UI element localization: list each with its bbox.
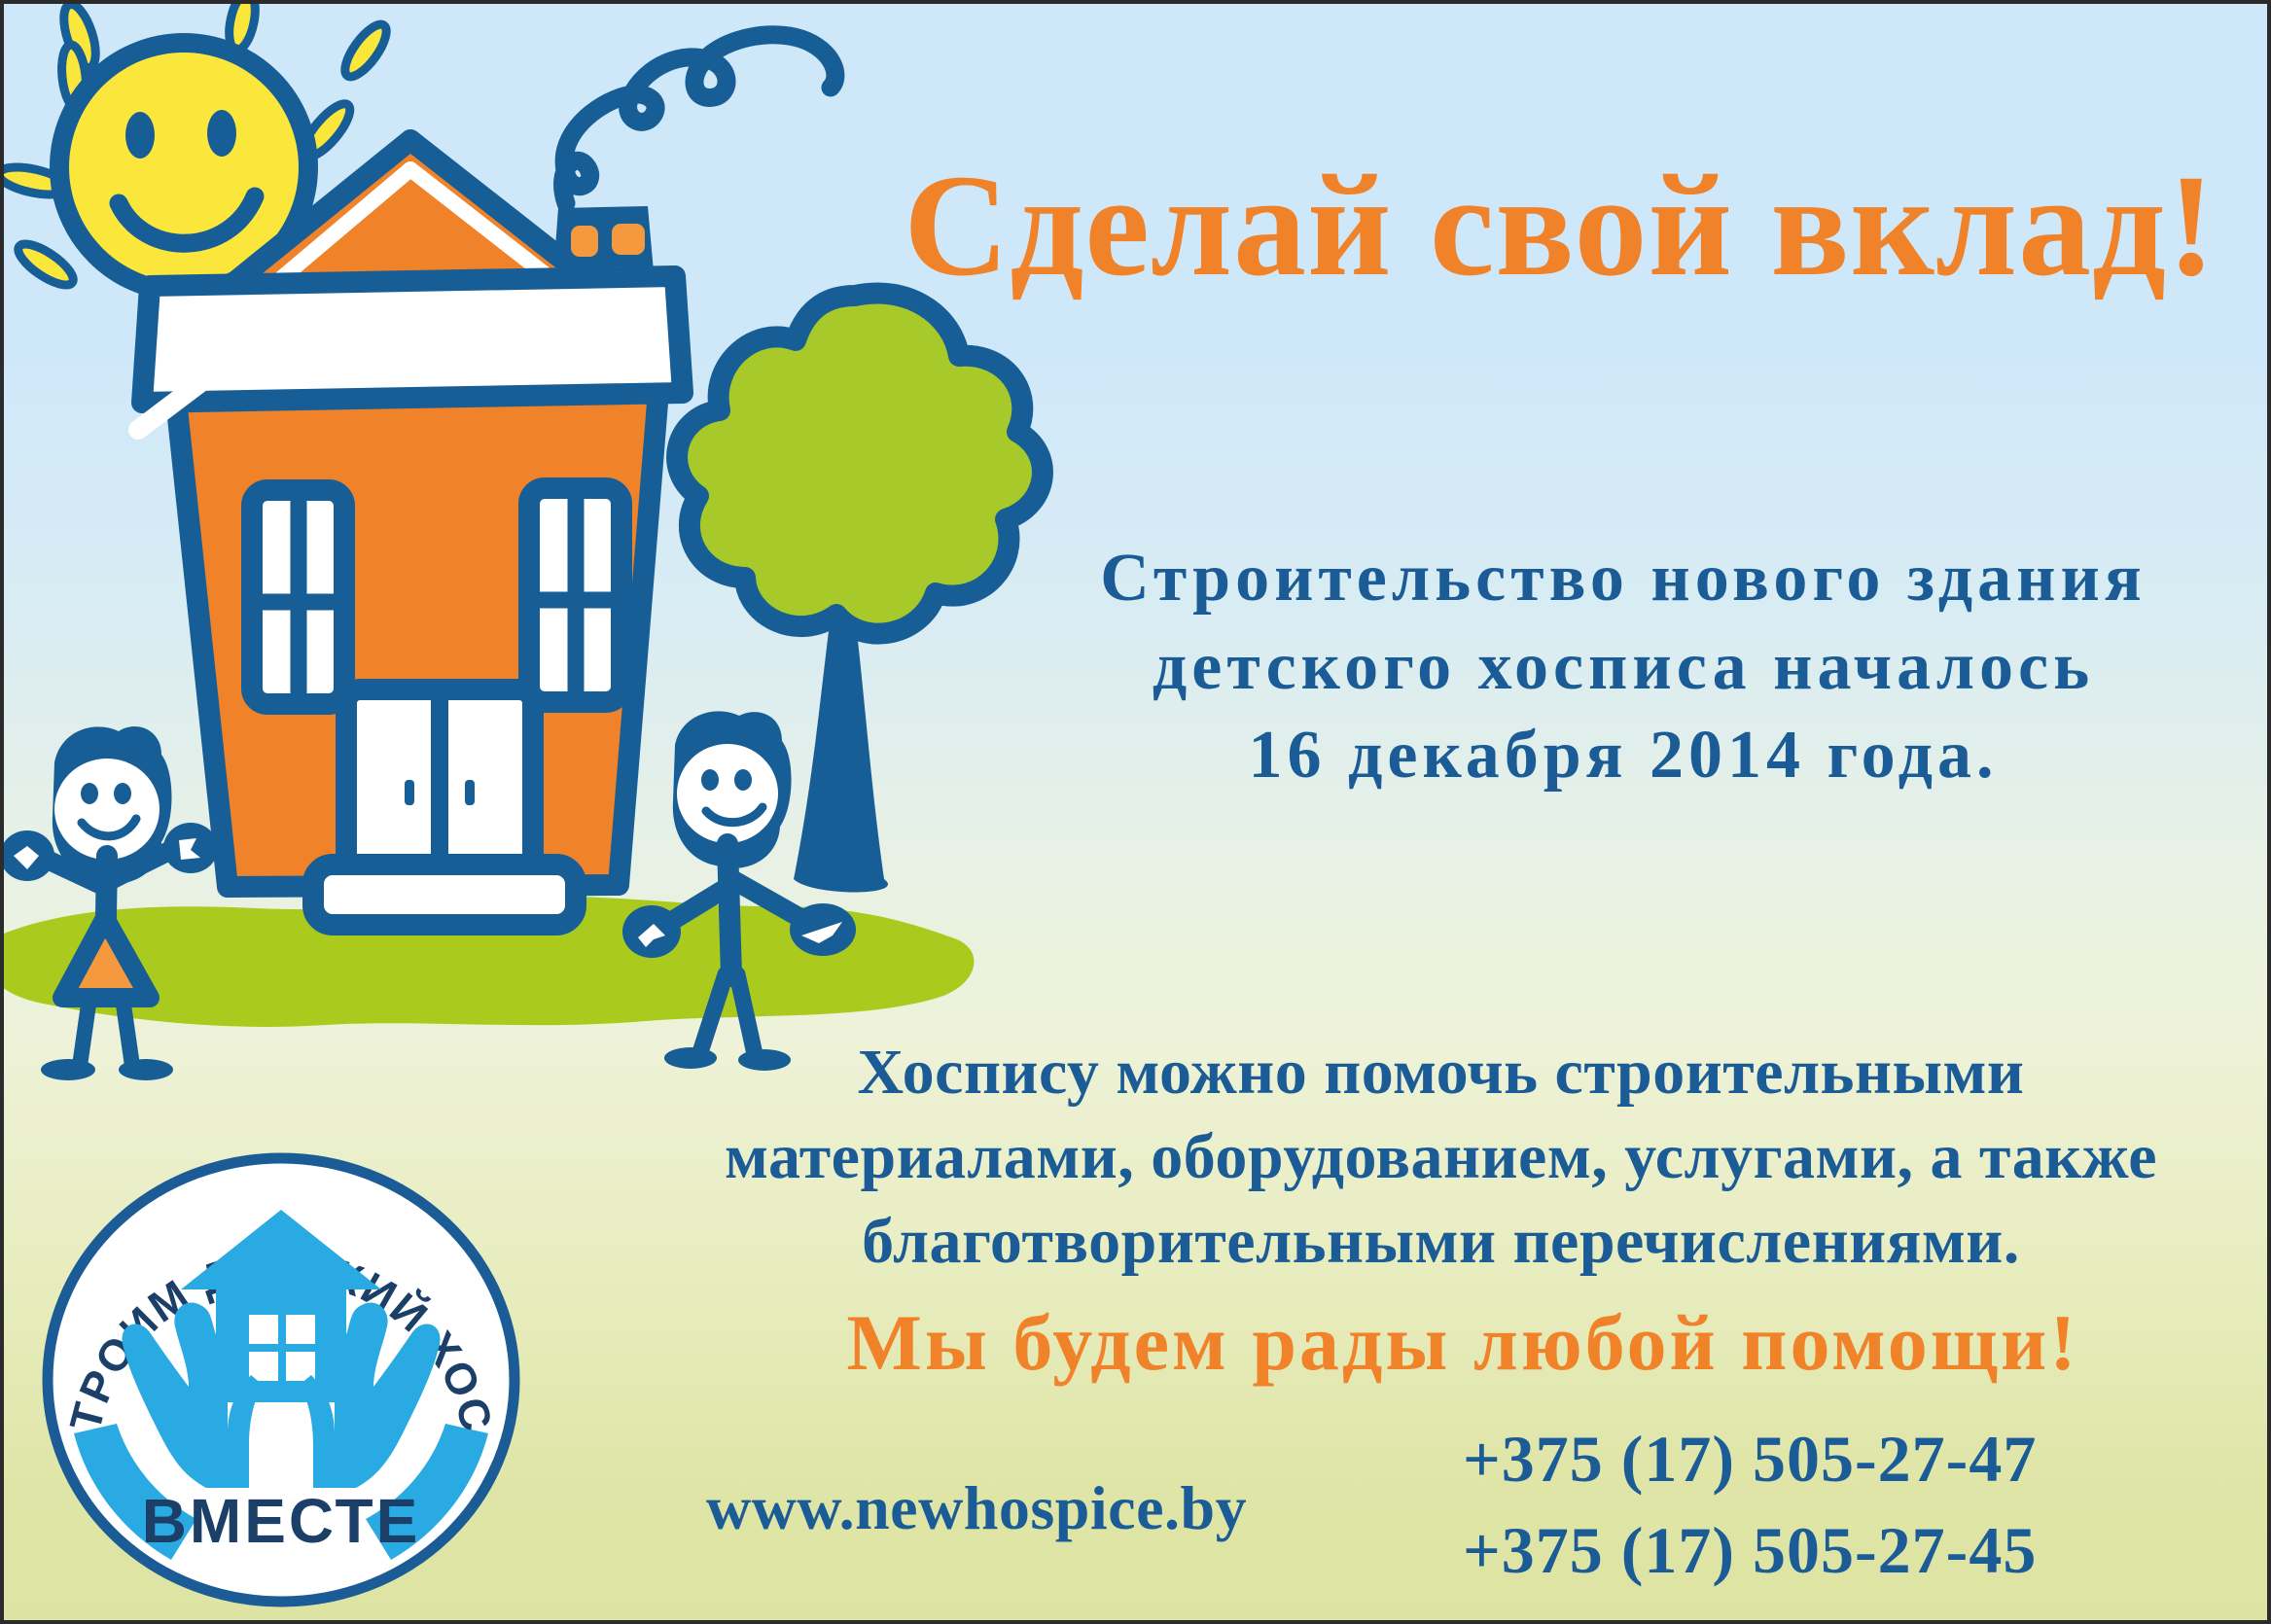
curly-smoke (563, 35, 835, 203)
page-title: Сделай свой вклад! (879, 150, 2241, 303)
construction-start-paragraph: Строительство нового здания детского хос… (996, 534, 2251, 799)
charity-poster: ПОСТРОИМ ДЕТСКИЙ ХОСПИС ВМЕСТЕ Сделай св… (0, 0, 2271, 1624)
date-line-2: детского хосписа началось (996, 622, 2251, 711)
date-line-1: Строительство нового здания (996, 534, 2251, 622)
help-line-1: Хоспису можно помочь строительными (626, 1030, 2255, 1114)
organization-logo: ПОСТРОИМ ДЕТСКИЙ ХОСПИС ВМЕСТЕ (33, 1142, 529, 1618)
phone-number-2[interactable]: +375 (17) 505-27-45 (1463, 1505, 2260, 1597)
house-window-right (529, 488, 621, 702)
call-to-action-text: Мы будем рады любой помощи! (665, 1297, 2260, 1389)
phone-number-1[interactable]: +375 (17) 505-27-47 (1463, 1414, 2260, 1505)
help-line-3: благотворительными перечислениями. (626, 1199, 2255, 1284)
house-window-left (252, 490, 344, 704)
child-figure-left (4, 726, 218, 1080)
logo-bottom-text: ВМЕСТЕ (142, 1486, 421, 1556)
date-line-3: 16 декабря 2014 года. (996, 711, 2251, 799)
help-line-2: материалами, оборудованием, услугами, а … (626, 1114, 2255, 1199)
how-to-help-paragraph: Хоспису можно помочь строительными матер… (626, 1030, 2255, 1284)
phone-numbers: +375 (17) 505-27-47 +375 (17) 505-27-45 (1463, 1414, 2260, 1597)
website-link[interactable]: www.newhospice.by (607, 1472, 1346, 1544)
